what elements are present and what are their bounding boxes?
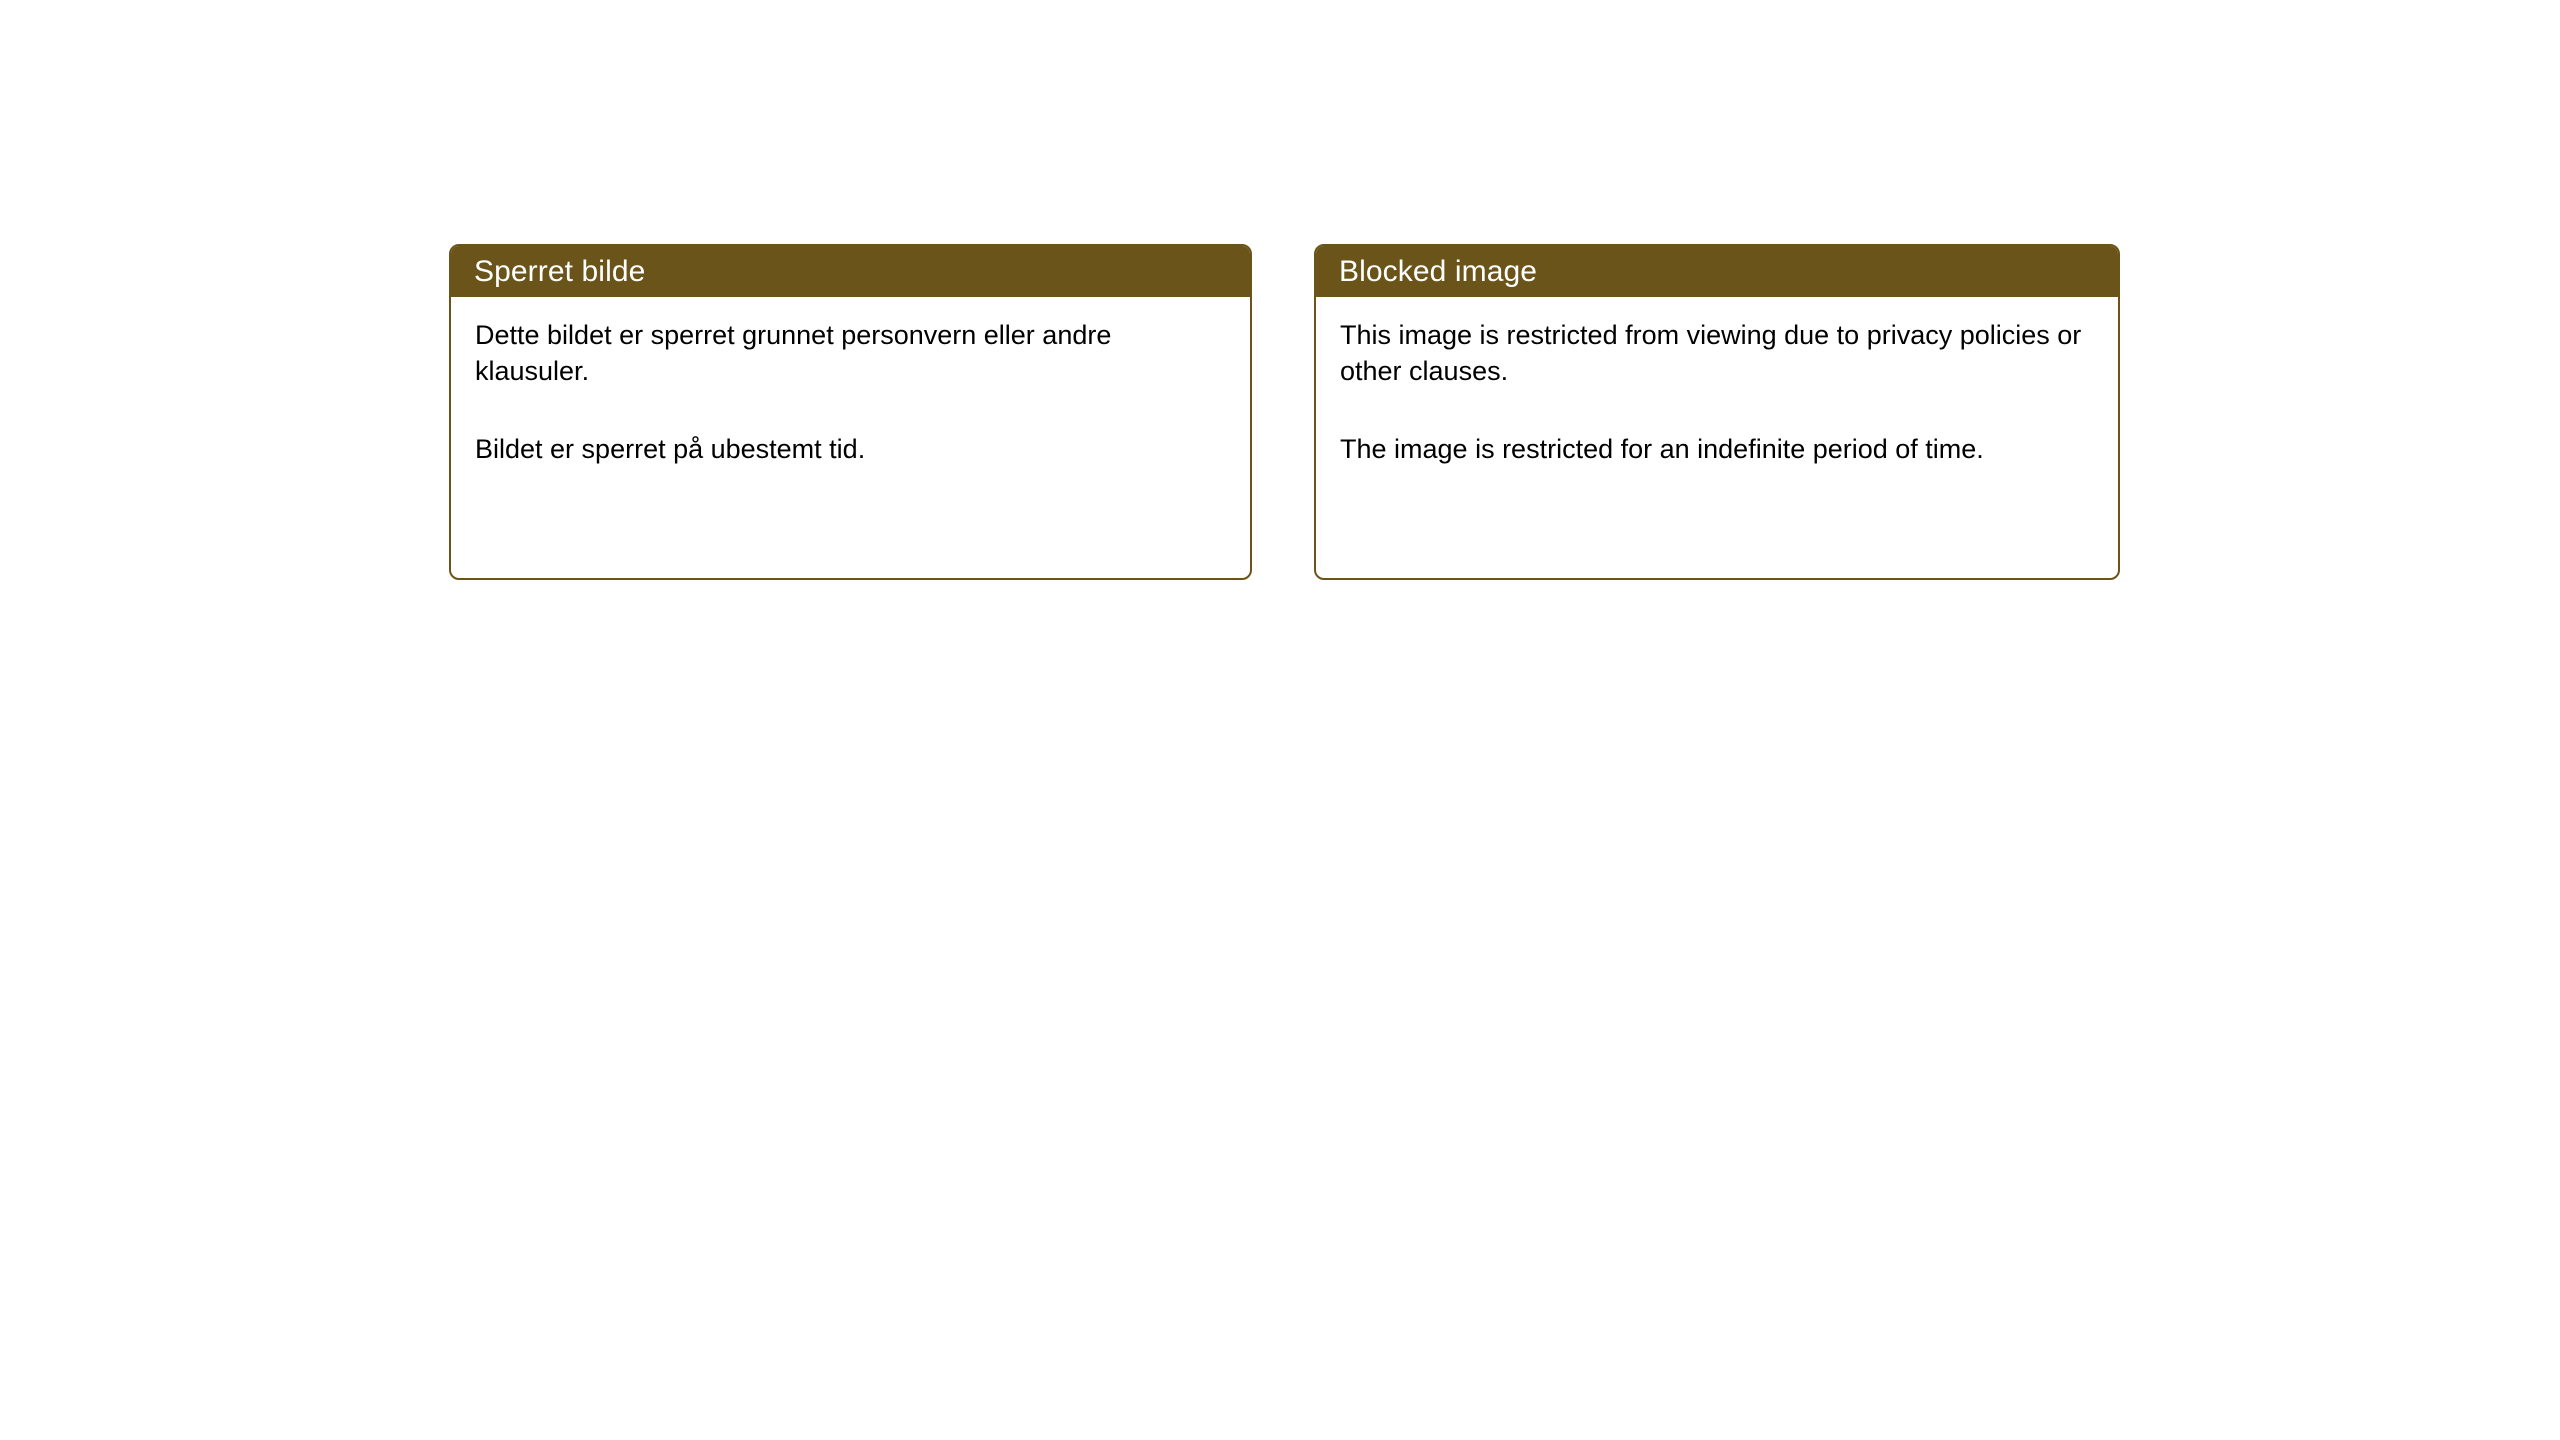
card-header-norwegian: Sperret bilde	[451, 246, 1250, 297]
blocked-image-notice-norwegian: Sperret bilde Dette bildet er sperret gr…	[449, 244, 1252, 580]
page-root: Sperret bilde Dette bildet er sperret gr…	[0, 0, 2560, 1440]
card-title-norwegian: Sperret bilde	[474, 257, 645, 287]
blocked-image-notice-english: Blocked image This image is restricted f…	[1314, 244, 2120, 580]
card-paragraph-secondary-norwegian: Bildet er sperret på ubestemt tid.	[475, 431, 1220, 467]
card-header-english: Blocked image	[1316, 246, 2118, 297]
card-body-norwegian: Dette bildet er sperret grunnet personve…	[451, 297, 1250, 467]
card-body-english: This image is restricted from viewing du…	[1316, 297, 2118, 467]
card-title-english: Blocked image	[1339, 257, 1537, 287]
card-paragraph-primary-norwegian: Dette bildet er sperret grunnet personve…	[475, 317, 1220, 389]
card-paragraph-secondary-english: The image is restricted for an indefinit…	[1340, 431, 2085, 467]
card-paragraph-primary-english: This image is restricted from viewing du…	[1340, 317, 2085, 389]
